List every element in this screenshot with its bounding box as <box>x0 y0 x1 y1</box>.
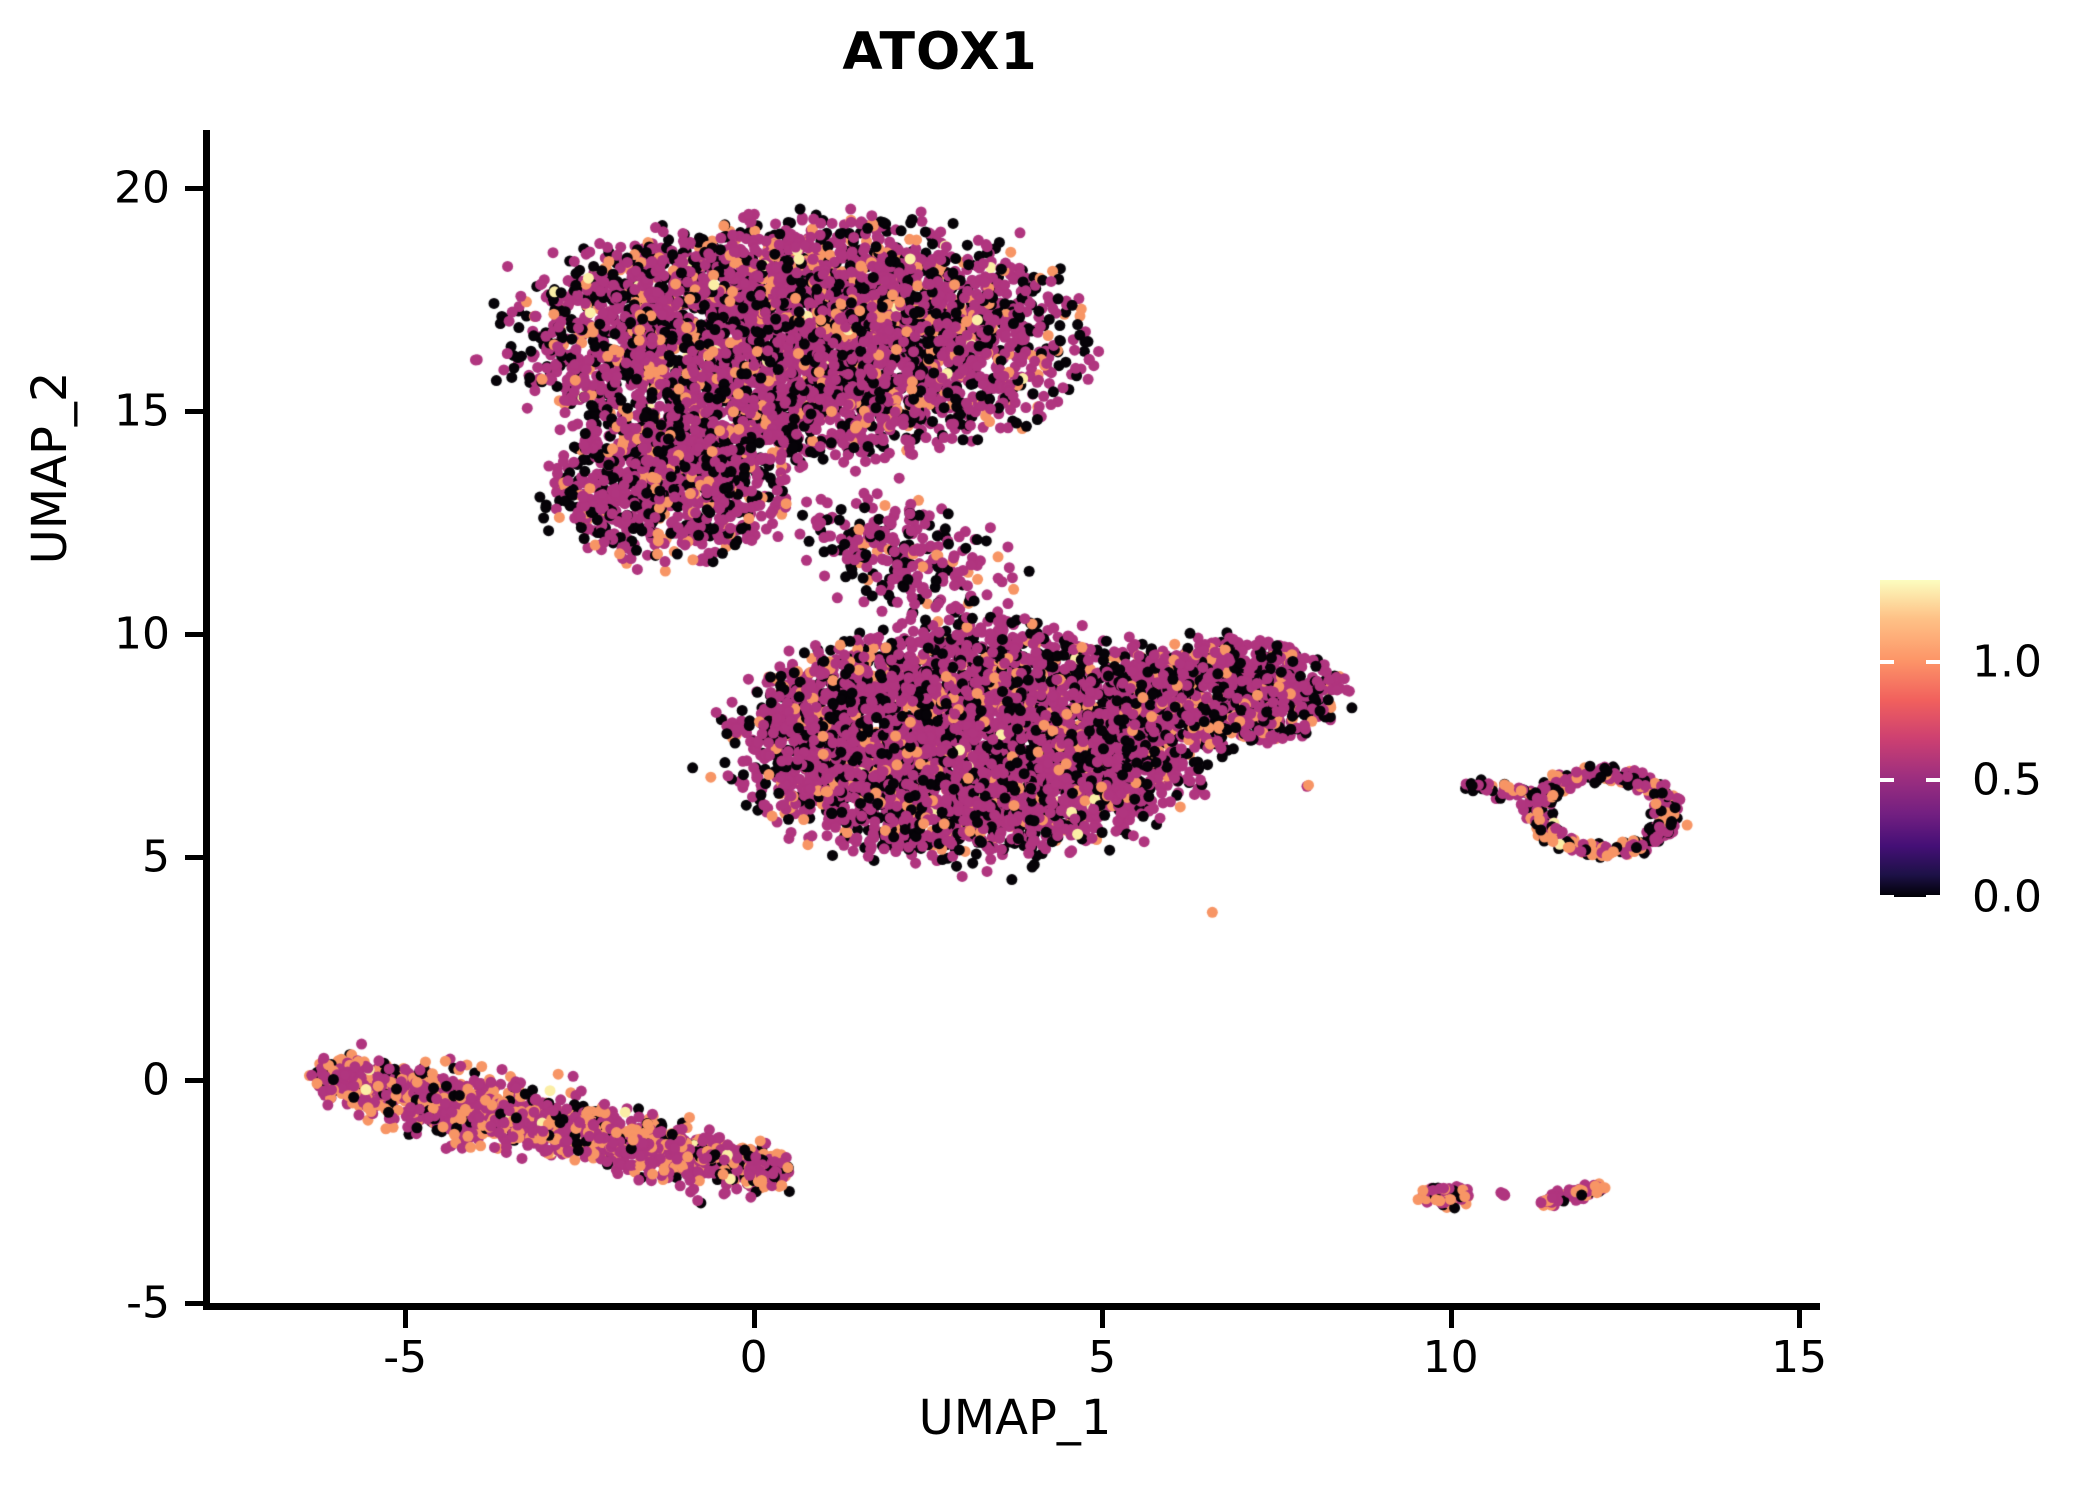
y-axis-label-wrap: UMAP_2 <box>0 440 400 500</box>
colorbar[interactable]: 1.00.50.0 <box>1880 580 2100 910</box>
x-tick-label: 0 <box>674 1332 834 1383</box>
x-axis-spine <box>203 1303 1820 1310</box>
colorbar-tick <box>1926 778 1940 782</box>
y-tick-label: -5 <box>0 1278 170 1329</box>
y-tick-mark <box>185 855 203 860</box>
colorbar-gradient <box>1880 580 1940 897</box>
figure-root: ATOX1 -505101520 -5051015 UMAP_1 UMAP_2 … <box>0 0 2100 1500</box>
x-axis-label: UMAP_1 <box>0 1390 2030 1446</box>
x-tick-label: -5 <box>325 1332 485 1383</box>
colorbar-tick-label: 0.5 <box>1972 754 2042 805</box>
chart-title: ATOX1 <box>0 22 1880 82</box>
x-tick-label: 10 <box>1371 1332 1531 1383</box>
y-tick-mark <box>185 1078 203 1083</box>
y-tick-mark <box>185 186 203 191</box>
x-tick-label: 5 <box>1022 1332 1182 1383</box>
x-tick-mark <box>1100 1310 1105 1328</box>
y-tick-mark <box>185 632 203 637</box>
y-axis-label: UMAP_2 <box>22 118 78 818</box>
scatter-canvas <box>210 130 1820 1303</box>
y-tick-label: 0 <box>0 1054 170 1105</box>
colorbar-tick <box>1880 895 1894 899</box>
y-tick-mark <box>185 1301 203 1306</box>
x-tick-label: 15 <box>1719 1332 1879 1383</box>
y-tick-label: 5 <box>0 831 170 882</box>
colorbar-tick <box>1880 660 1894 664</box>
x-tick-mark <box>752 1310 757 1328</box>
y-tick-mark <box>185 409 203 414</box>
x-tick-mark <box>1797 1310 1802 1328</box>
colorbar-tick-label: 1.0 <box>1972 637 2042 688</box>
scatter-plot-area[interactable] <box>210 130 1820 1303</box>
y-axis-spine <box>203 130 210 1310</box>
colorbar-tick <box>1926 895 1940 899</box>
x-tick-mark <box>1449 1310 1454 1328</box>
x-tick-mark <box>403 1310 408 1328</box>
colorbar-tick <box>1880 778 1894 782</box>
colorbar-tick <box>1926 660 1940 664</box>
colorbar-tick-label: 0.0 <box>1972 872 2042 923</box>
